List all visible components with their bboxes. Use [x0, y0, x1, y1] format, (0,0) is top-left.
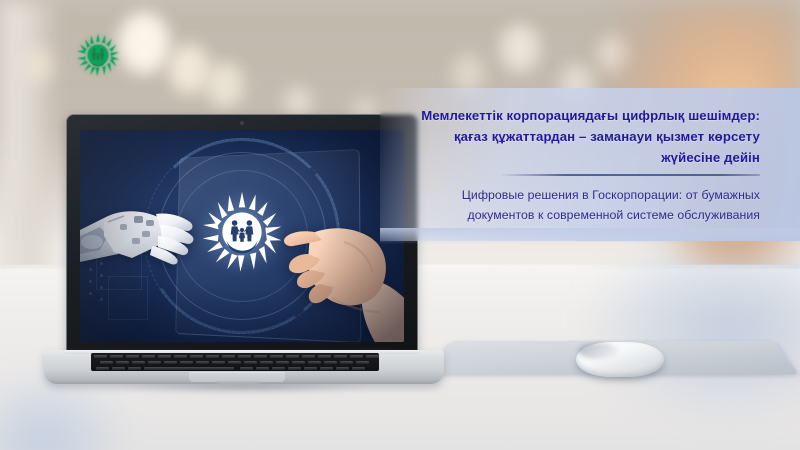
bokeh-light-6 — [500, 24, 540, 72]
government-for-citizens-sunburst-logo — [76, 33, 120, 77]
bokeh-light-1 — [118, 12, 170, 74]
title-kazakh: Мемлекеттік корпорациядағы цифрлық шешім… — [400, 106, 760, 168]
webcam-icon — [240, 121, 244, 125]
bokeh-light-2 — [168, 44, 210, 94]
title-kazakh-line-2: қағаз құжаттардан – заманауи қызмет көрс… — [400, 127, 760, 148]
laptop-base — [44, 350, 444, 384]
laptop-keyboard — [91, 353, 379, 371]
laptop-screen — [80, 130, 404, 342]
text-overlay-panel-fade — [380, 228, 800, 244]
bokeh-light-4 — [24, 46, 54, 84]
laptop-front-notch — [216, 381, 260, 384]
poster-text-block: Мемлекеттік корпорациядағы цифрлық шешім… — [400, 106, 782, 225]
title-kazakh-line-1: Мемлекеттік корпорациядағы цифрлық шешім… — [400, 106, 760, 127]
subtitle-russian: Цифровые решения в Госкорпорации: от бум… — [400, 185, 760, 225]
subtitle-russian-line-2: документов к современной системе обслужи… — [400, 205, 760, 225]
screen-glare — [80, 130, 404, 342]
laptop-lid — [66, 114, 418, 356]
mouse-highlight — [578, 343, 618, 359]
subtitle-russian-line-1: Цифровые решения в Госкорпорации: от бум… — [400, 185, 760, 205]
wireless-mouse — [576, 342, 664, 377]
title-divider — [500, 174, 760, 176]
title-kazakh-line-3: жүйесіне дейін — [400, 148, 760, 169]
bokeh-light-3 — [206, 62, 244, 108]
poster-stage: Мемлекеттік корпорациядағы цифрлық шешім… — [0, 0, 800, 450]
